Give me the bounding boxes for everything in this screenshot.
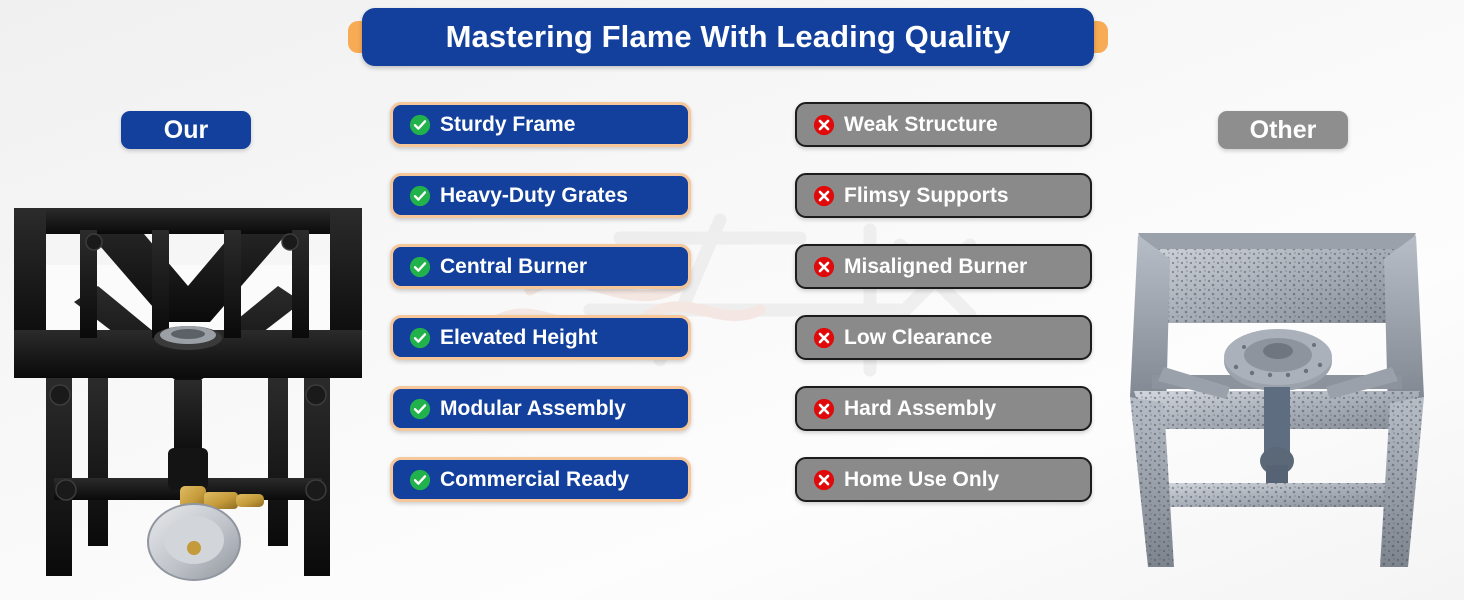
our-feature-item[interactable]: Elevated Height (390, 315, 691, 360)
green-check-circle-icon (409, 398, 431, 420)
other-side-badge: Other (1218, 111, 1348, 149)
page-title: Mastering Flame With Leading Quality (446, 19, 1011, 55)
red-cross-circle-icon (813, 469, 835, 491)
our-side-badge: Our (121, 111, 251, 149)
other-feature-label: Flimsy Supports (844, 184, 1009, 208)
other-feature-item[interactable]: Misaligned Burner (795, 244, 1092, 289)
our-feature-item[interactable]: Modular Assembly (390, 386, 691, 431)
our-feature-label: Elevated Height (440, 326, 598, 350)
red-cross-circle-icon (813, 256, 835, 278)
other-feature-label: Low Clearance (844, 326, 992, 350)
our-product-image (2, 190, 374, 590)
other-feature-item[interactable]: Hard Assembly (795, 386, 1092, 431)
our-side-badge-label: Our (164, 116, 208, 145)
green-check-circle-icon (409, 469, 431, 491)
our-features-column: Sturdy Frame Heavy-Duty Grates Central B… (390, 102, 691, 502)
our-feature-label: Sturdy Frame (440, 113, 575, 137)
other-product-image (1108, 215, 1448, 583)
our-feature-label: Heavy-Duty Grates (440, 184, 628, 208)
other-feature-label: Hard Assembly (844, 397, 996, 421)
our-feature-label: Commercial Ready (440, 468, 629, 492)
other-feature-item[interactable]: Home Use Only (795, 457, 1092, 502)
header-banner: Mastering Flame With Leading Quality (362, 8, 1094, 66)
red-cross-circle-icon (813, 398, 835, 420)
green-check-circle-icon (409, 114, 431, 136)
red-cross-circle-icon (813, 114, 835, 136)
other-feature-item[interactable]: Weak Structure (795, 102, 1092, 147)
header-banner-group: Mastering Flame With Leading Quality (348, 8, 1108, 66)
our-feature-item[interactable]: Heavy-Duty Grates (390, 173, 691, 218)
other-feature-label: Misaligned Burner (844, 255, 1027, 279)
other-feature-label: Home Use Only (844, 468, 999, 492)
green-check-circle-icon (409, 327, 431, 349)
our-feature-label: Central Burner (440, 255, 587, 279)
our-feature-item[interactable]: Sturdy Frame (390, 102, 691, 147)
red-cross-circle-icon (813, 185, 835, 207)
red-cross-circle-icon (813, 327, 835, 349)
other-feature-item[interactable]: Low Clearance (795, 315, 1092, 360)
green-check-circle-icon (409, 256, 431, 278)
other-side-badge-label: Other (1250, 116, 1317, 145)
other-feature-label: Weak Structure (844, 113, 998, 137)
green-check-circle-icon (409, 185, 431, 207)
other-feature-item[interactable]: Flimsy Supports (795, 173, 1092, 218)
our-feature-item[interactable]: Central Burner (390, 244, 691, 289)
other-features-column: Weak Structure Flimsy Supports Misaligne… (795, 102, 1092, 502)
our-feature-label: Modular Assembly (440, 397, 626, 421)
our-feature-item[interactable]: Commercial Ready (390, 457, 691, 502)
